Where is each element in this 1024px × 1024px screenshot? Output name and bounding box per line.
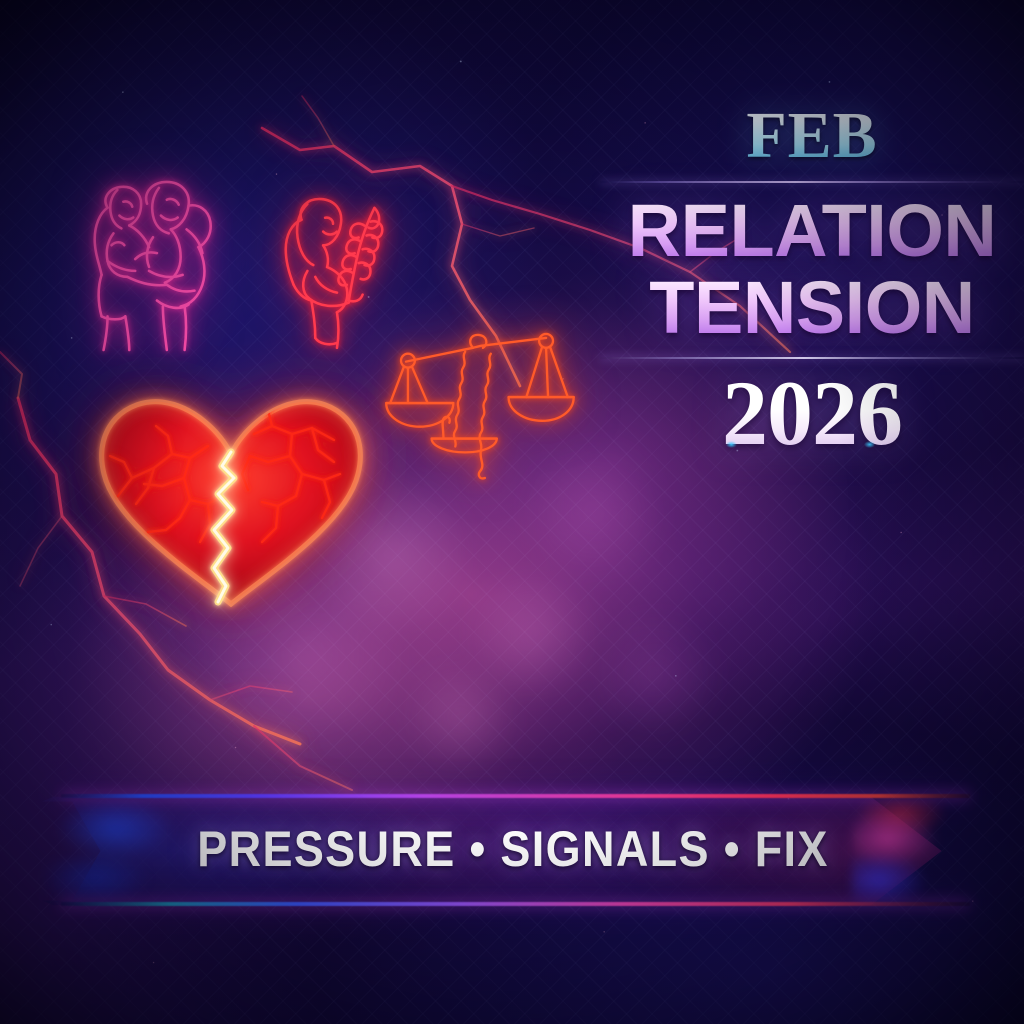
vignette-overlay [0, 0, 1024, 1024]
horoscope-poster: FEB RELATION TENSION 2026 PRESSURE • SIG… [0, 0, 1024, 1024]
